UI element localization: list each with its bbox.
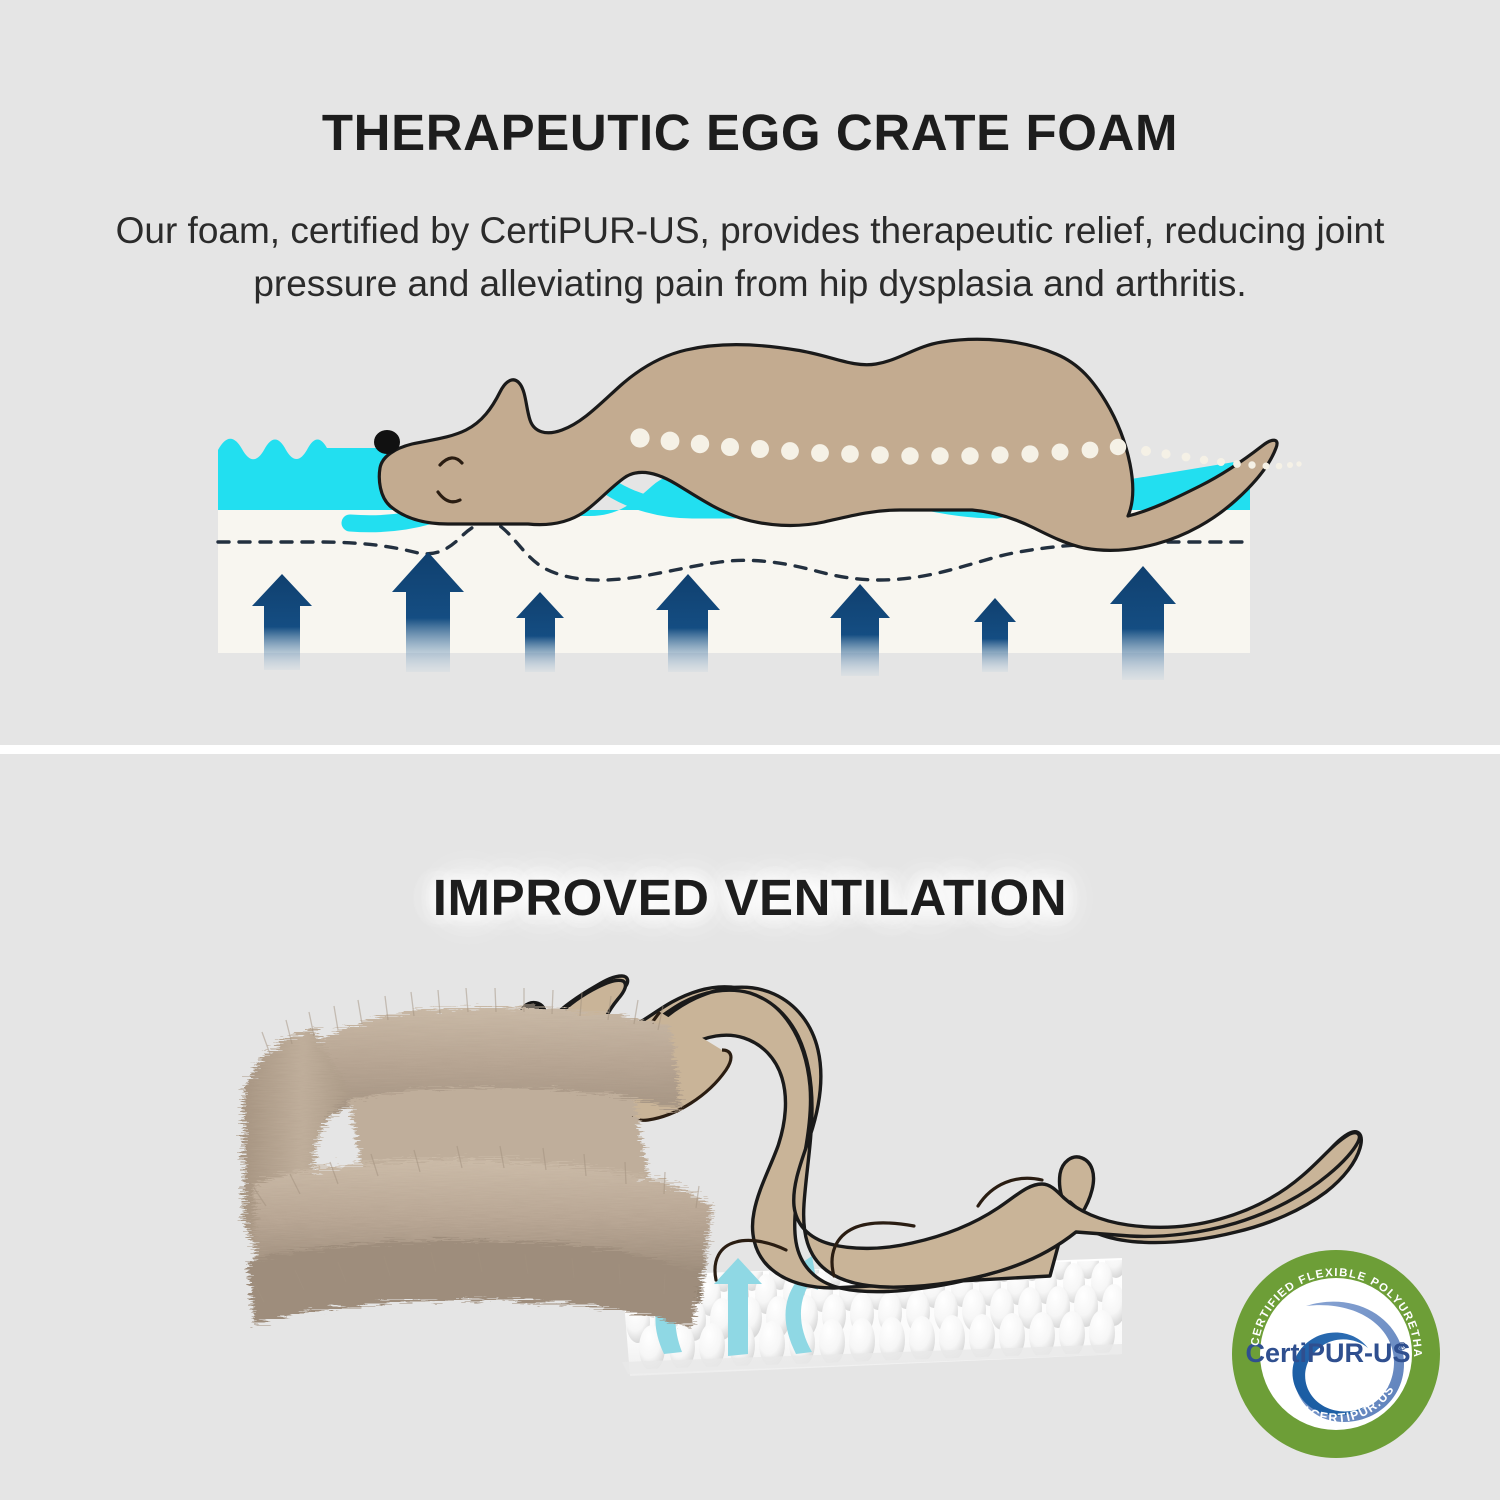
dog-figure-side-view — [374, 339, 1302, 550]
panel-improved-ventilation: IMPROVED VENTILATION — [0, 754, 1500, 1500]
plush-bolster-bed — [244, 988, 712, 1328]
certipur-us-badge: CertiPUR-US ® CONTAINS CERTIFIED FLEXIBL… — [1228, 1246, 1444, 1462]
dog-body — [379, 339, 1277, 550]
infographic-page: THERAPEUTIC EGG CRATE FOAM Our foam, cer… — [0, 0, 1500, 1500]
cross-section-dog-on-foam-illustration — [200, 320, 1310, 700]
panel-subtitle-therapeutic-foam: Our foam, certified by CertiPUR-US, prov… — [60, 205, 1440, 310]
dog-nose — [374, 430, 400, 454]
panel-divider — [0, 745, 1500, 754]
panel-therapeutic-foam: THERAPEUTIC EGG CRATE FOAM Our foam, cer… — [0, 0, 1500, 745]
badge-wordmark: CertiPUR-US — [1245, 1338, 1410, 1368]
badge-registered-mark: ® — [1398, 1341, 1406, 1353]
panel-title-therapeutic-foam: THERAPEUTIC EGG CRATE FOAM — [0, 106, 1500, 160]
